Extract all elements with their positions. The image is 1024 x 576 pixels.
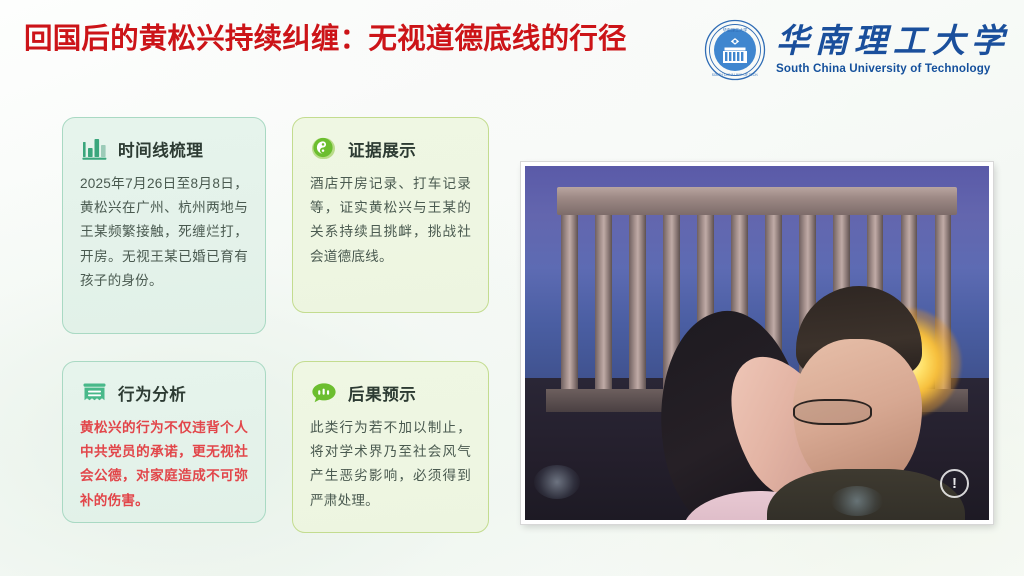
card-header: 时间线梳理	[80, 134, 248, 164]
card-title: 行为分析	[118, 381, 186, 405]
card-title: 证据展示	[348, 137, 416, 161]
logo-name-cn: 华南理工大学	[776, 25, 1010, 60]
monument-column	[629, 215, 646, 400]
card-behavior[interactable]: 行为分析 黄松兴的行为不仅违背个人中共党员的承诺，更无视社会公德，对家庭造成不可…	[62, 361, 266, 523]
document-icon	[80, 379, 109, 408]
svg-text:华南理工大学: 华南理工大学	[723, 27, 748, 33]
monument-entablature	[557, 187, 956, 215]
card-timeline[interactable]: 时间线梳理 2025年7月26日至8月8日，黄松兴在广州、杭州两地与王某频繁接触…	[62, 117, 266, 334]
card-evidence[interactable]: 证据展示 酒店开房记录、打车记录等，证实黄松兴与王某的关系持续且挑衅，挑战社会道…	[292, 117, 489, 313]
logo-text-group: 华南理工大学 South China University of Technol…	[776, 25, 1010, 76]
glasses-icon	[793, 399, 872, 425]
person-face	[793, 339, 922, 488]
card-body-text: 2025年7月26日至8月8日，黄松兴在广州、杭州两地与王某频繁接触，死缠烂打，…	[80, 172, 248, 293]
monument-column	[561, 215, 578, 400]
page-title: 回国后的黄松兴持续纠缠：无视道德底线的行径	[24, 22, 714, 56]
card-title: 后果预示	[348, 381, 416, 405]
university-logo: 华南理工大学 SOUTH CHINA UNIV. OF TECH. 华南理工大学…	[704, 14, 1010, 86]
photo-warning-watermark: !	[940, 469, 969, 498]
card-body-text: 黄松兴的行为不仅违背个人中共党员的承诺，更无视社会公德，对家庭造成不可弥补的伤害…	[80, 416, 248, 513]
monument-column	[595, 215, 612, 400]
logo-name-en: South China University of Technology	[776, 62, 991, 75]
card-outcome[interactable]: 后果预示 此类行为若不加以制止，将对学术界乃至社会风气产生恶劣影响，必须得到严肃…	[292, 361, 489, 533]
speech-bubble-icon	[310, 379, 339, 408]
photo-bokeh	[534, 465, 580, 499]
card-header: 行为分析	[80, 378, 248, 408]
evidence-photo[interactable]: !	[521, 162, 993, 524]
swirl-badge-icon	[310, 135, 339, 164]
photo-person-right	[790, 286, 948, 520]
slide-root: 回国后的黄松兴持续纠缠：无视道德底线的行径 华南理工大学 SOUTH CHINA…	[0, 0, 1024, 576]
card-header: 证据展示	[310, 134, 471, 164]
university-seal-icon: 华南理工大学 SOUTH CHINA UNIV. OF TECH.	[704, 19, 766, 81]
card-body-text: 酒店开房记录、打车记录等，证实黄松兴与王某的关系持续且挑衅，挑战社会道德底线。	[310, 172, 471, 269]
svg-text:SOUTH CHINA UNIV. OF TECH.: SOUTH CHINA UNIV. OF TECH.	[712, 73, 759, 77]
card-body-text: 此类行为若不加以制止，将对学术界乃至社会风气产生恶劣影响，必须得到严肃处理。	[310, 416, 471, 513]
card-title: 时间线梳理	[118, 137, 204, 161]
bar-chart-icon	[80, 135, 109, 164]
photo-canvas: !	[525, 166, 989, 520]
card-header: 后果预示	[310, 378, 471, 408]
